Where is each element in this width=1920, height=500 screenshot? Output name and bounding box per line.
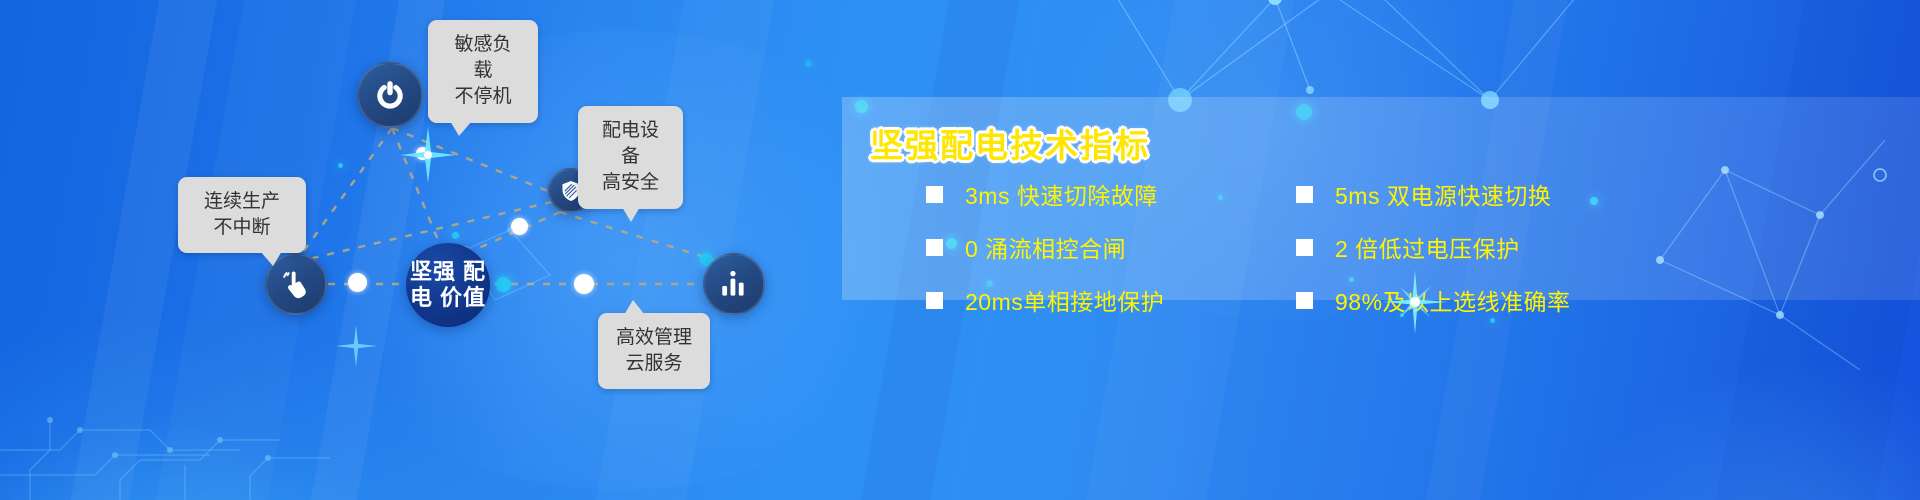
- center-node-label: 坚强 配电 价值: [406, 259, 490, 311]
- bullet-square-icon: [1296, 292, 1313, 309]
- node-chart[interactable]: [703, 253, 765, 315]
- center-node[interactable]: 坚强 配电 价值: [406, 243, 490, 327]
- bokeh-dot: [1490, 318, 1495, 323]
- connector-dot: [338, 163, 343, 168]
- spec-bullet-item[interactable]: 0 涌流相控合闸: [926, 230, 1296, 264]
- callout-upper-right[interactable]: 配电设备 高安全: [578, 106, 683, 209]
- spec-bullet-label: 5ms 双电源快速切换: [1335, 177, 1551, 211]
- spec-bullet-item[interactable]: 20ms单相接地保护: [926, 283, 1296, 317]
- connector-dot: [511, 218, 528, 235]
- spec-bullet-grid: 3ms 快速切除故障 5ms 双电源快速切换 0 涌流相控合闸 2 倍低过电压保…: [926, 177, 1906, 317]
- bar-chart-icon: [718, 268, 750, 300]
- connector-dot: [496, 277, 511, 292]
- connector-dot: [452, 232, 459, 239]
- spec-bullet-item[interactable]: 3ms 快速切除故障: [926, 177, 1296, 211]
- value-node-diagram: 坚强 配电 价值 敏感负载 不停机 配电设备 高安全 连续生产 不中断 高效管理…: [0, 0, 840, 500]
- spec-bullet-item[interactable]: 2 倍低过电压保护: [1296, 230, 1906, 264]
- bullet-square-icon: [926, 292, 943, 309]
- spec-bullet-label: 2 倍低过电压保护: [1335, 230, 1520, 264]
- connector-dot: [574, 274, 594, 294]
- spec-panel: 坚强配电技术指标 3ms 快速切除故障 5ms 双电源快速切换 0 涌流相控合闸…: [842, 97, 1920, 300]
- spec-bullet-label: 3ms 快速切除故障: [965, 177, 1158, 211]
- spec-bullet-item[interactable]: 5ms 双电源快速切换: [1296, 177, 1906, 211]
- bullet-square-icon: [926, 186, 943, 203]
- panel-title: 坚强配电技术指标: [870, 119, 1150, 167]
- spec-bullet-label: 0 涌流相控合闸: [965, 230, 1126, 264]
- promo-banner: 坚强 配电 价值 敏感负载 不停机 配电设备 高安全 连续生产 不中断 高效管理…: [0, 0, 1920, 500]
- node-power[interactable]: [357, 62, 423, 128]
- spec-bullet-label: 98%及以上选线准确率: [1335, 283, 1571, 317]
- bullet-square-icon: [1296, 186, 1313, 203]
- bullet-square-icon: [926, 239, 943, 256]
- callout-bottom[interactable]: 高效管理 云服务: [598, 313, 710, 389]
- bullet-square-icon: [1296, 239, 1313, 256]
- callout-top[interactable]: 敏感负载 不停机: [428, 20, 538, 123]
- hand-touch-icon: [280, 268, 312, 300]
- connector-dot: [416, 147, 429, 160]
- spec-bullet-label: 20ms单相接地保护: [965, 283, 1164, 317]
- connector-dot: [348, 273, 367, 292]
- diagram-connectors: [0, 0, 840, 500]
- bg-haze-bottom-right: [1560, 360, 1920, 500]
- power-icon: [373, 78, 407, 112]
- spec-bullet-item[interactable]: 98%及以上选线准确率: [1296, 283, 1906, 317]
- callout-left[interactable]: 连续生产 不中断: [178, 177, 306, 253]
